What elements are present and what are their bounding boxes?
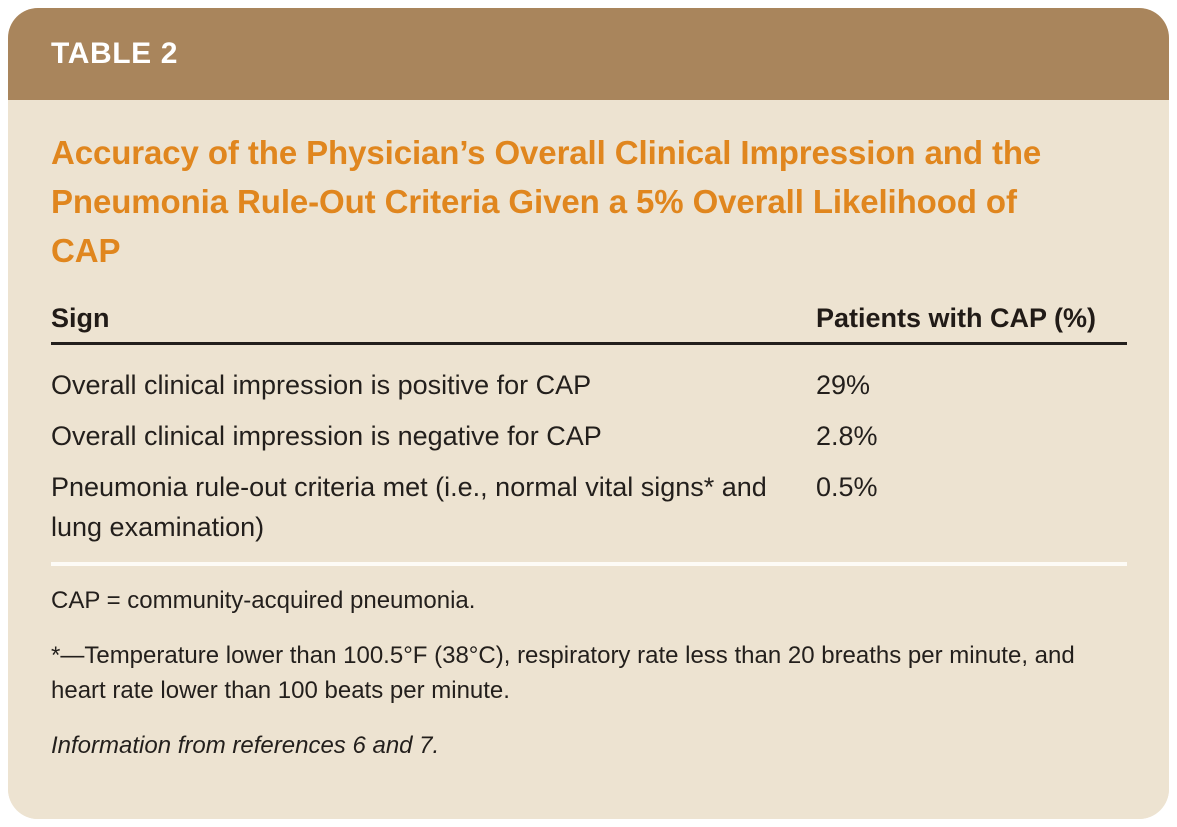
cell-sign: Pneumonia rule-out criteria met (i.e., n… (51, 467, 816, 558)
table-card: TABLE 2 Accuracy of the Physician’s Over… (8, 8, 1169, 819)
table-body: Accuracy of the Physician’s Overall Clin… (8, 100, 1169, 819)
table-number-label: TABLE 2 (51, 37, 178, 71)
table-header-row: Sign Patients with CAP (%) (51, 303, 1127, 344)
footnote-abbreviation: CAP = community-acquired pneumonia. (51, 583, 1126, 618)
column-header-patients-with-cap: Patients with CAP (%) (816, 303, 1127, 344)
footnotes: CAP = community-acquired pneumonia. *—Te… (51, 566, 1126, 763)
table-row: Overall clinical impression is negative … (51, 416, 1127, 467)
cell-sign: Overall clinical impression is negative … (51, 416, 816, 467)
cell-sign: Overall clinical impression is positive … (51, 344, 816, 417)
column-header-sign: Sign (51, 303, 816, 344)
cell-value: 2.8% (816, 416, 1127, 467)
table-title: Accuracy of the Physician’s Overall Clin… (51, 100, 1061, 275)
footnote-source: Information from references 6 and 7. (51, 728, 1126, 763)
cell-value: 0.5% (816, 467, 1127, 558)
table-header-bar: TABLE 2 (8, 8, 1169, 100)
data-table: Sign Patients with CAP (%) Overall clini… (51, 303, 1127, 558)
footnote-asterisk: *—Temperature lower than 100.5°F (38°C),… (51, 638, 1126, 708)
cell-value: 29% (816, 344, 1127, 417)
table-row: Overall clinical impression is positive … (51, 344, 1127, 417)
table-row: Pneumonia rule-out criteria met (i.e., n… (51, 467, 1127, 558)
